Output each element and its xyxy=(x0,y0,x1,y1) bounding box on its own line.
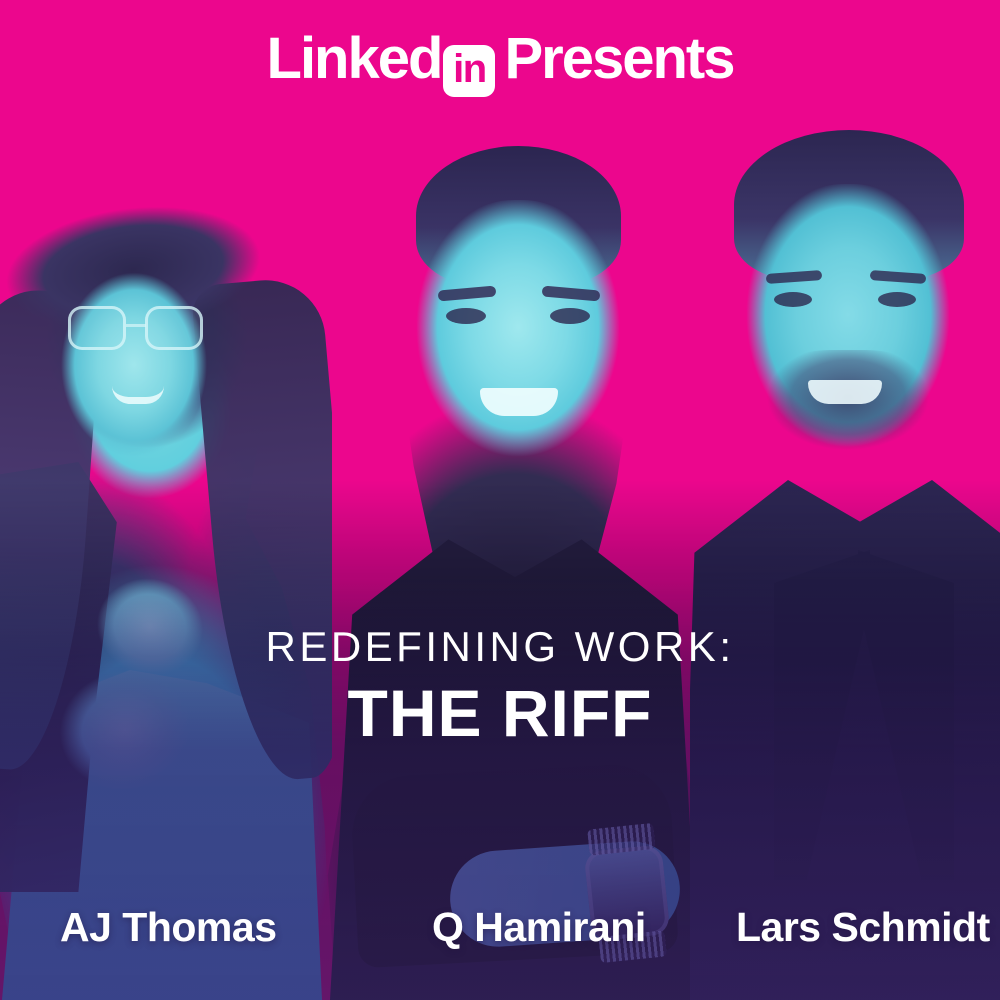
portrait-right-eye-left xyxy=(774,292,812,307)
linkedin-in-badge-icon: in xyxy=(443,45,495,97)
portrait-left-eyeglasses xyxy=(68,306,203,352)
linkedin-presents-logo: Linked in Presents xyxy=(267,30,734,91)
show-title-eyebrow: REDEFINING WORK: xyxy=(0,626,1000,668)
portrait-center-smile xyxy=(480,388,558,416)
portrait-right-beard xyxy=(756,350,940,468)
portrait-center-face xyxy=(412,200,624,465)
portrait-lars-schmidt xyxy=(690,100,1000,1000)
speaker-name-q-hamirani: Q Hamirani xyxy=(432,907,646,948)
show-title-main: THE RIFF xyxy=(0,680,1000,746)
show-title-block: REDEFINING WORK: THE RIFF xyxy=(0,626,1000,746)
portrait-right-eye-right xyxy=(878,292,916,307)
portrait-q-hamirani xyxy=(320,110,710,1000)
portrait-center-eye-left xyxy=(446,308,486,324)
brand-header: Linked in Presents xyxy=(0,0,1000,120)
linkedin-wordmark-presents: Presents xyxy=(504,30,733,88)
portrait-left-face xyxy=(58,266,210,456)
linkedin-wordmark-linked: Linked xyxy=(267,30,442,88)
portrait-right-smile xyxy=(808,380,882,404)
portrait-aj-thomas xyxy=(0,140,332,1000)
portrait-center-eye-right xyxy=(550,308,590,324)
speaker-name-lars-schmidt: Lars Schmidt xyxy=(736,907,990,948)
linkedin-in-badge-label: in xyxy=(453,49,486,89)
speaker-name-aj-thomas: AJ Thomas xyxy=(60,907,277,948)
portrait-stage xyxy=(0,0,1000,1000)
linkedin-presents-poster: Linked in Presents REDEFINING WORK: THE … xyxy=(0,0,1000,1000)
